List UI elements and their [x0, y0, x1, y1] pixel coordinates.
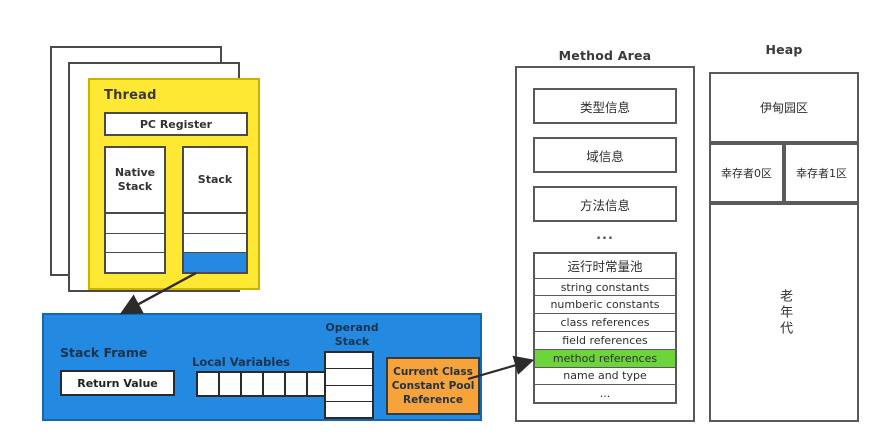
method-area-box-type-info: 类型信息	[533, 88, 677, 124]
operand-stack-cell	[326, 402, 372, 417]
heap-title: Heap	[709, 42, 859, 57]
local-variable-slot	[218, 371, 242, 397]
local-variable-slot	[284, 371, 308, 397]
local-variable-slot	[262, 371, 286, 397]
return-value-box: Return Value	[60, 370, 175, 396]
current-class-constant-pool-reference-box: Current Class Constant Pool Reference	[386, 357, 480, 415]
operand-stack-label-line2: Stack	[322, 335, 382, 348]
local-variable-slot	[240, 371, 264, 397]
pc-register-box: PC Register	[104, 112, 248, 136]
stack-cell	[184, 234, 246, 254]
stack-cell	[184, 214, 246, 234]
stack-frame-panel: Stack Frame Return Value Local Variables…	[42, 313, 482, 421]
native-stack-cell	[106, 234, 164, 254]
heap-survivor1-region: 幸存者1区	[784, 143, 859, 203]
pool-row-string-constants: string constants	[535, 279, 675, 297]
pool-row-method-references: method references	[535, 350, 675, 368]
heap-old-generation-label: 老年代	[777, 289, 791, 337]
method-area-ellipsis: ...	[533, 228, 677, 243]
operand-stack-cell	[326, 386, 372, 402]
native-stack-cell	[106, 214, 164, 234]
ccp-line3: Reference	[403, 394, 463, 406]
pool-row-numberic-constants: numberic constants	[535, 296, 675, 314]
local-variables-label: Local Variables	[192, 355, 290, 369]
method-area-box-method-info: 方法信息	[533, 186, 677, 222]
stack-label: Stack	[184, 148, 246, 214]
runtime-constant-pool-header: 运行时常量池	[535, 254, 675, 279]
operand-stack-cell	[326, 353, 372, 369]
pool-row-name-and-type: name and type	[535, 368, 675, 386]
native-stack-label: Native Stack	[106, 148, 164, 214]
pool-row-class-references: class references	[535, 314, 675, 332]
thread-label: Thread	[104, 88, 157, 103]
runtime-constant-pool: 运行时常量池 string constants numberic constan…	[533, 252, 677, 404]
heap-survivor0-region: 幸存者0区	[709, 143, 784, 203]
stack-cell-active	[184, 253, 246, 272]
heap-old-generation-region: 老年代	[709, 203, 859, 422]
native-stack-column: Native Stack	[104, 146, 166, 274]
method-area-title: Method Area	[515, 48, 695, 63]
native-stack-cell	[106, 253, 164, 272]
method-area-box-field-info: 域信息	[533, 137, 677, 173]
ccp-line2: Constant Pool	[392, 380, 475, 392]
operand-stack-label-line1: Operand	[322, 321, 382, 334]
pool-row-field-references: field references	[535, 332, 675, 350]
heap-eden-region: 伊甸园区	[709, 72, 859, 143]
ccp-line1: Current Class	[393, 366, 473, 378]
stack-frame-label: Stack Frame	[60, 345, 147, 360]
operand-stack-cells	[324, 351, 374, 419]
pool-row-ellipsis: ...	[535, 385, 675, 402]
jvm-memory-diagram: Thread PC Register Native Stack Stack St…	[0, 0, 874, 440]
stack-column: Stack	[182, 146, 248, 274]
thread-card: Thread PC Register Native Stack Stack	[88, 78, 260, 290]
local-variable-slot	[196, 371, 220, 397]
operand-stack-cell	[326, 369, 372, 385]
